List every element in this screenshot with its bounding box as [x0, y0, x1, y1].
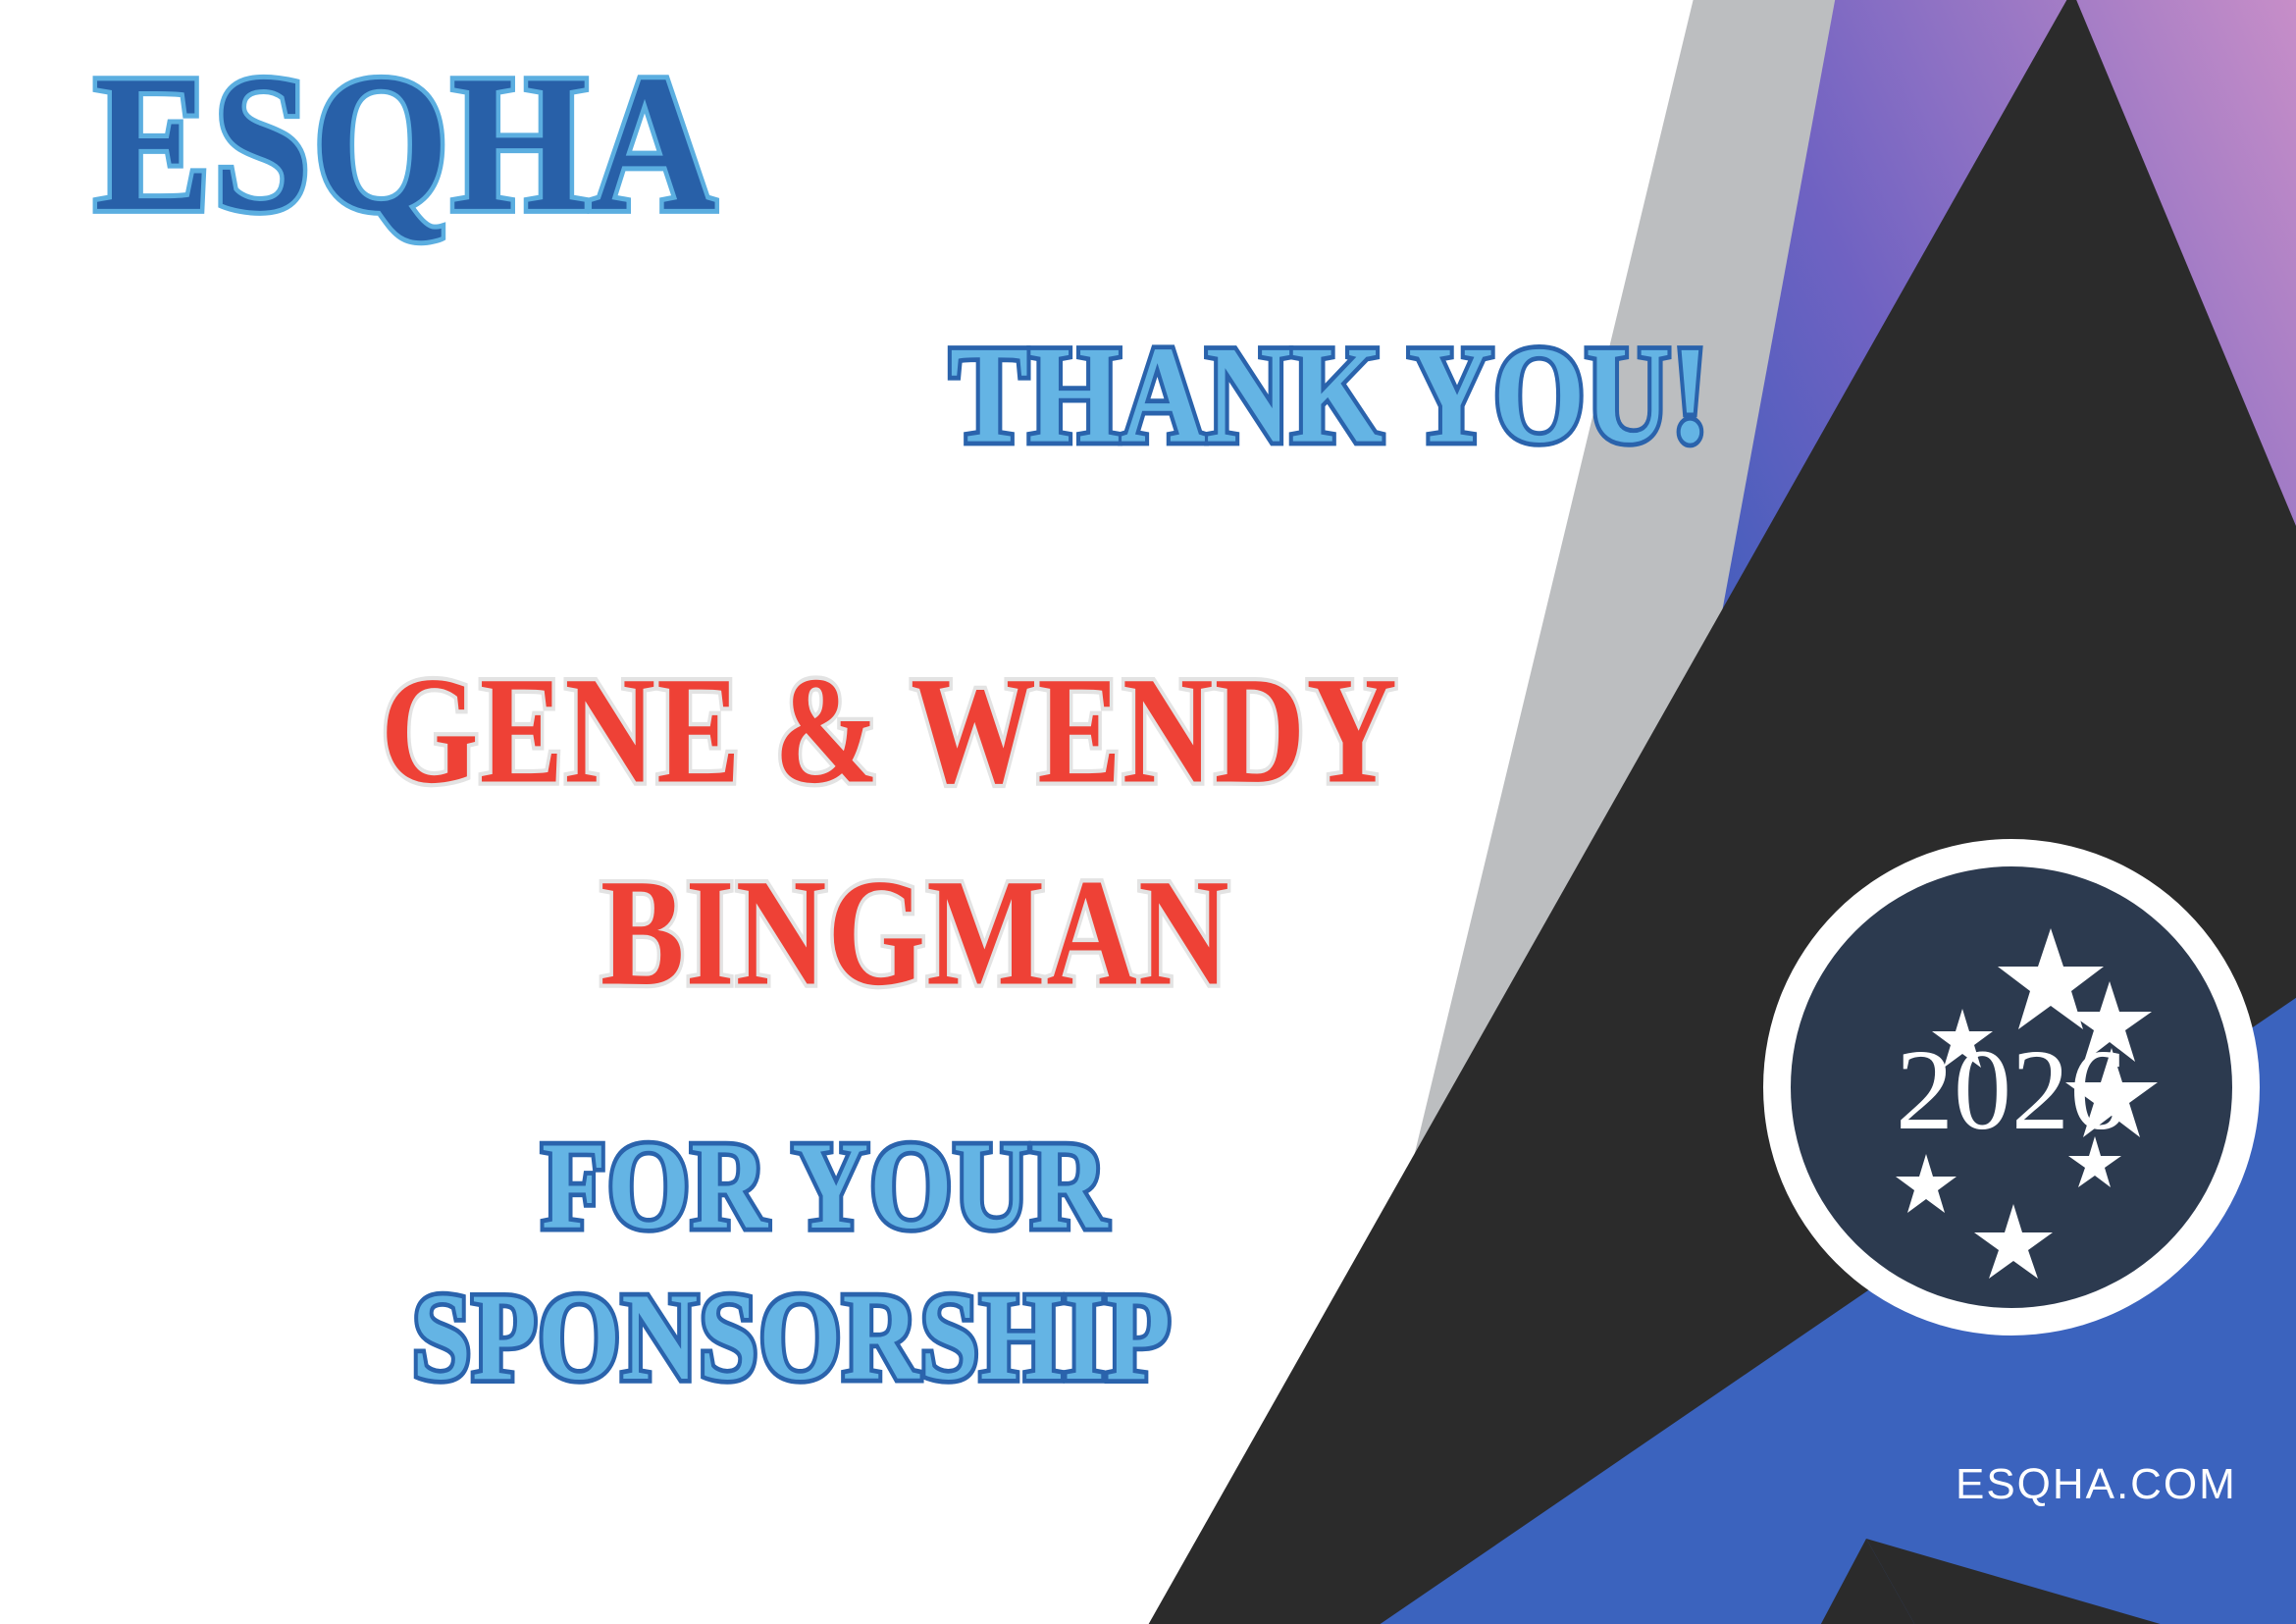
sponsor-name-line-2: BINGMAN	[600, 856, 1230, 1009]
closing-line-1: FOR YOUR	[542, 1125, 1109, 1249]
closing-line-2: SPONSORSHIP	[412, 1276, 1172, 1400]
esqha-wordmark: ESQHA	[94, 45, 719, 240]
thank-you-headline: THANK YOU!	[950, 326, 1710, 465]
website-url-label: ESQHA.COM	[1956, 1460, 2237, 1509]
badge-year-text: 2026	[1896, 1025, 2127, 1154]
sponsorship-thank-you-poster: 2026 ESQHA THANK YOU! GENE & WENDY BINGM…	[0, 0, 2296, 1624]
sponsor-name-line-1: GENE & WENDY	[381, 654, 1398, 807]
